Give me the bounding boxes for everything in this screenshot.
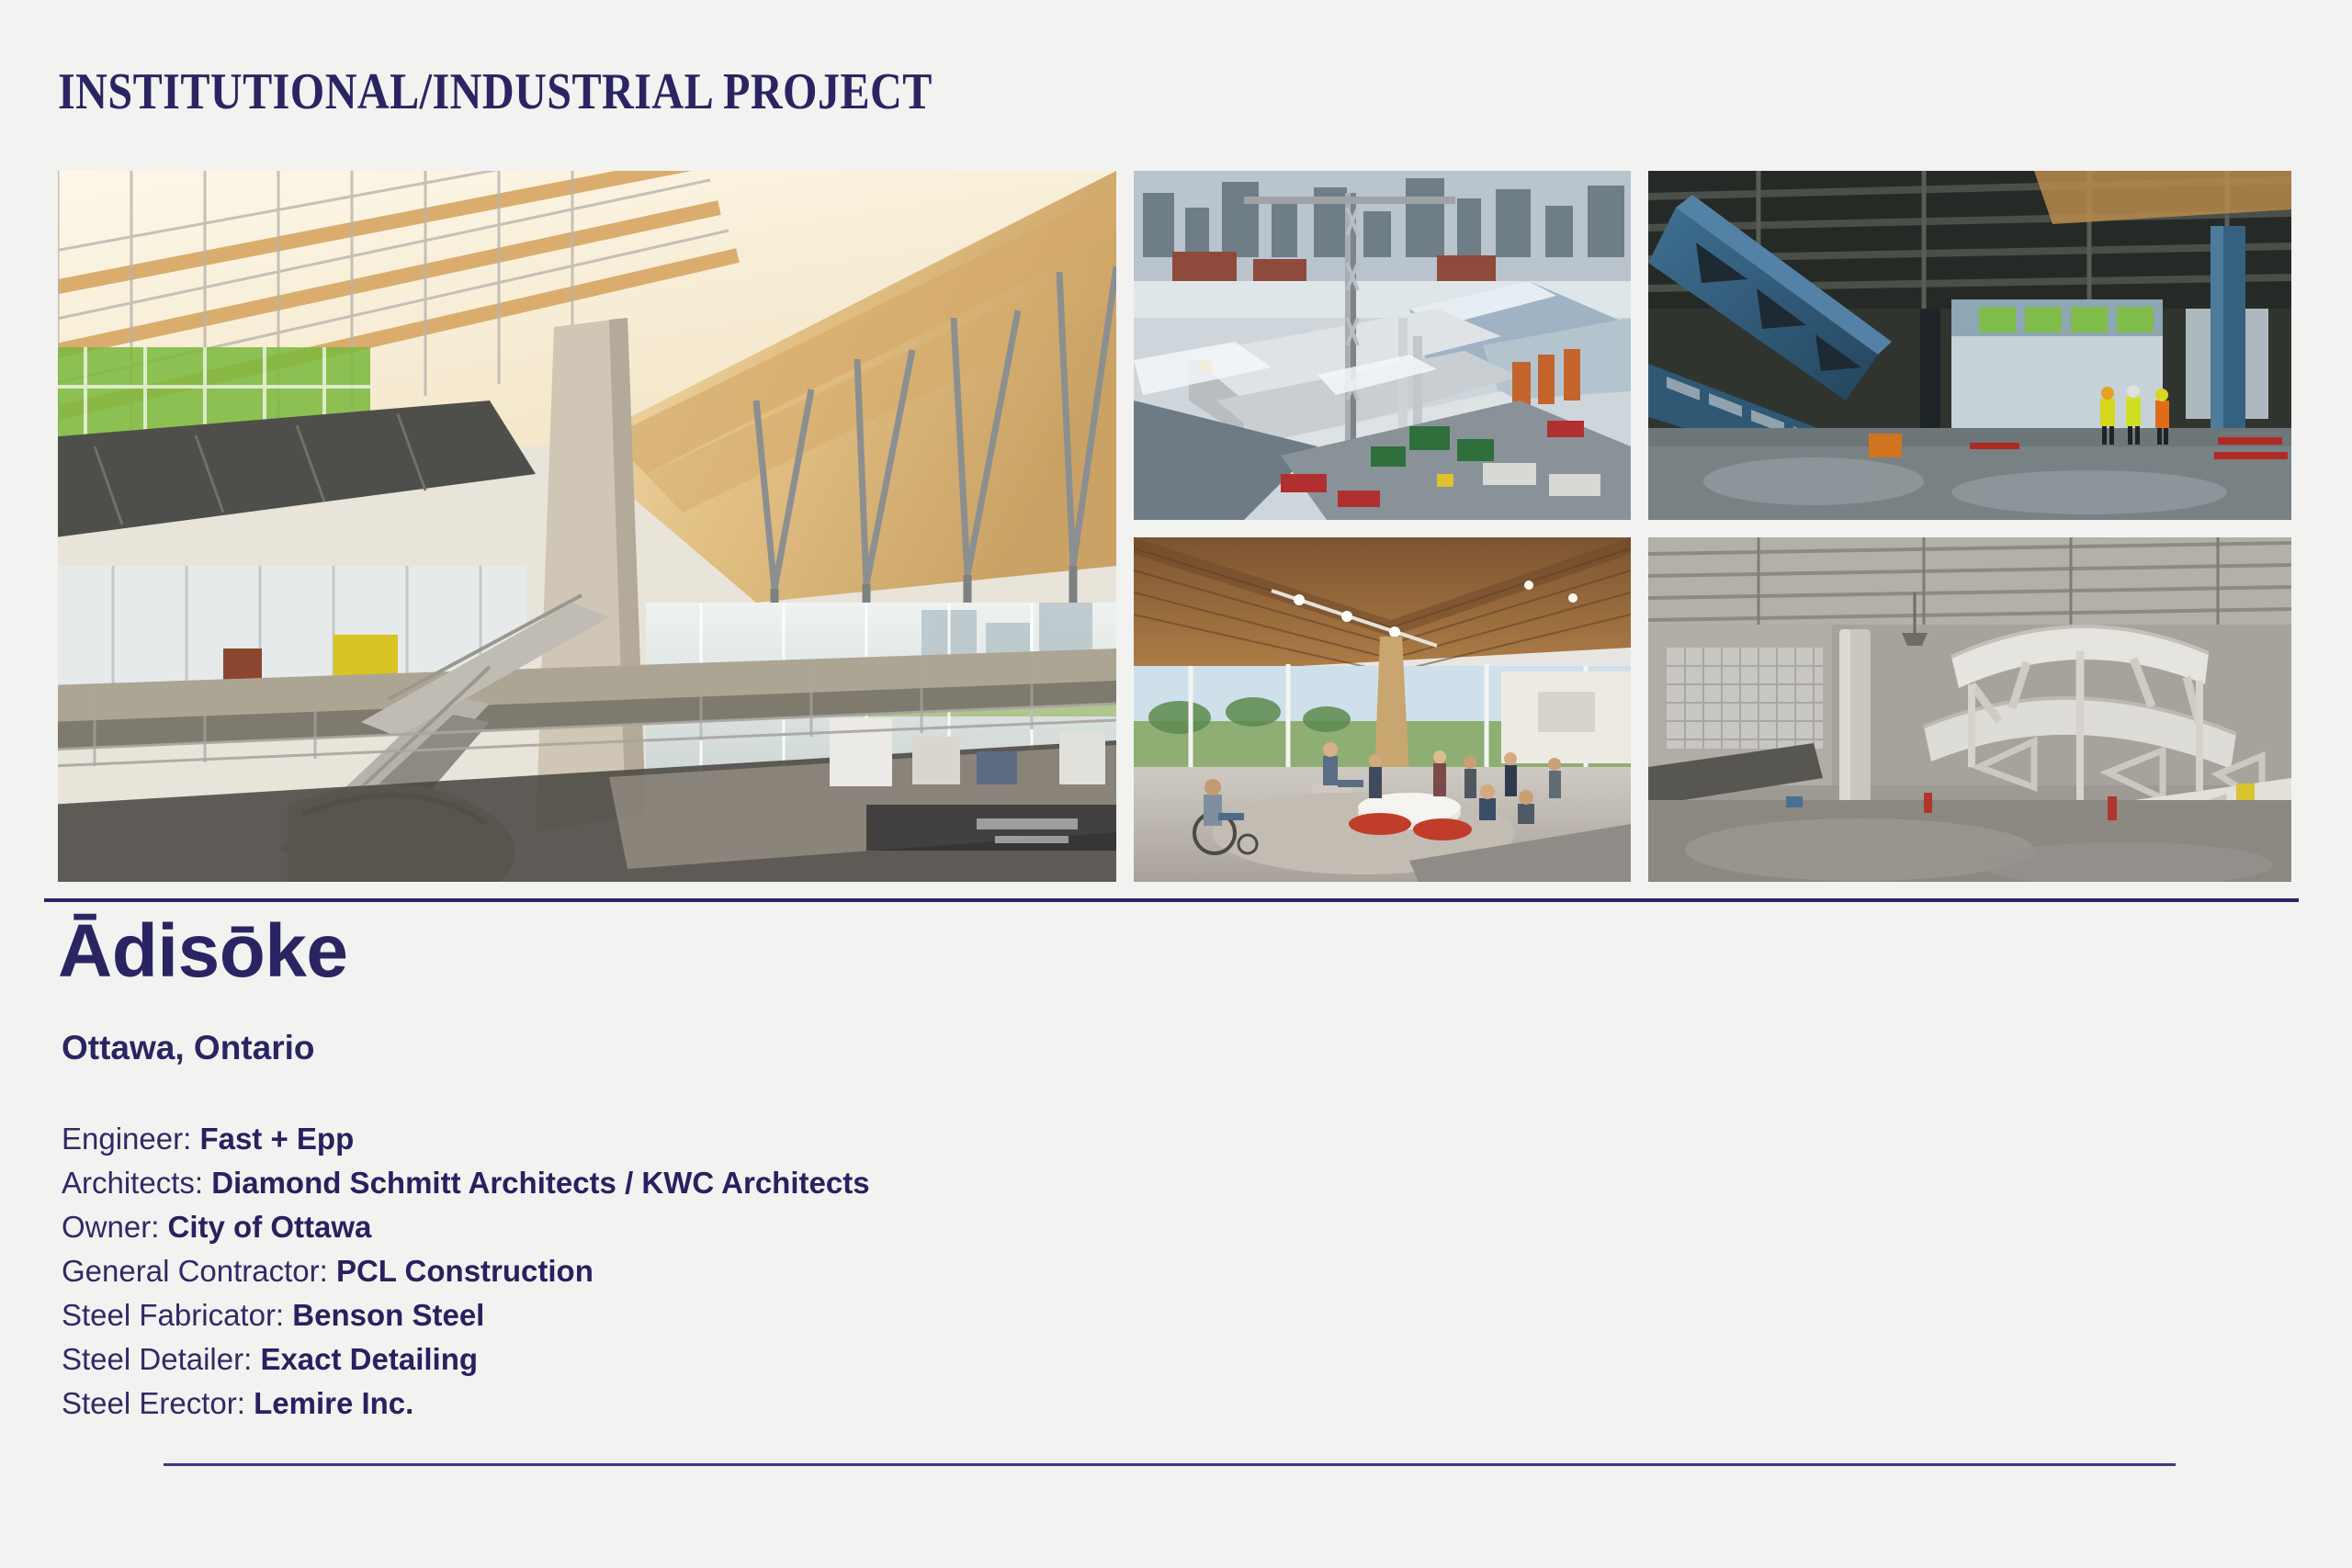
- credit-row-steel-erector: Steel Erector: Lemire Inc.: [62, 1382, 1532, 1426]
- spiral-stair-steel-photo: [1648, 537, 2291, 882]
- credit-row-general-contractor: General Contractor: PCL Construction: [62, 1249, 1532, 1293]
- atrium-interior-photo: [58, 171, 1116, 882]
- project-location: Ottawa, Ontario: [62, 1031, 314, 1065]
- credit-role: General Contractor:: [62, 1254, 336, 1288]
- credit-value: Diamond Schmitt Architects / KWC Archite…: [211, 1166, 869, 1200]
- credit-value: Lemire Inc.: [254, 1386, 413, 1420]
- credit-value: City of Ottawa: [168, 1210, 372, 1244]
- credit-value: Benson Steel: [292, 1298, 484, 1332]
- credit-row-steel-fabricator: Steel Fabricator: Benson Steel: [62, 1293, 1532, 1337]
- photo-gallery: [58, 171, 2291, 882]
- credit-row-engineer: Engineer: Fast + Epp: [62, 1117, 1532, 1161]
- divider-top: [44, 898, 2299, 902]
- credit-row-architects: Architects: Diamond Schmitt Architects /…: [62, 1161, 1532, 1205]
- aerial-construction-photo: [1134, 171, 1631, 520]
- credit-row-owner: Owner: City of Ottawa: [62, 1205, 1532, 1249]
- credit-role: Architects:: [62, 1166, 211, 1200]
- credit-role: Steel Detailer:: [62, 1342, 260, 1376]
- credit-value: Exact Detailing: [260, 1342, 478, 1376]
- credit-role: Engineer:: [62, 1122, 199, 1156]
- lounge-rendering-photo: [1134, 537, 1631, 882]
- credits-list: Engineer: Fast + Epp Architects: Diamond…: [62, 1117, 1532, 1426]
- divider-bottom: [164, 1463, 2176, 1466]
- credit-role: Owner:: [62, 1210, 168, 1244]
- credit-value: Fast + Epp: [199, 1122, 354, 1156]
- credit-value: PCL Construction: [336, 1254, 594, 1288]
- credit-role: Steel Erector:: [62, 1386, 254, 1420]
- credit-row-steel-detailer: Steel Detailer: Exact Detailing: [62, 1337, 1532, 1382]
- credit-role: Steel Fabricator:: [62, 1298, 292, 1332]
- project-name: Ādisōke: [58, 914, 348, 989]
- blue-steel-truss-photo: [1648, 171, 2291, 520]
- page-title: INSTITUTIONAL/INDUSTRIAL PROJECT: [58, 66, 933, 118]
